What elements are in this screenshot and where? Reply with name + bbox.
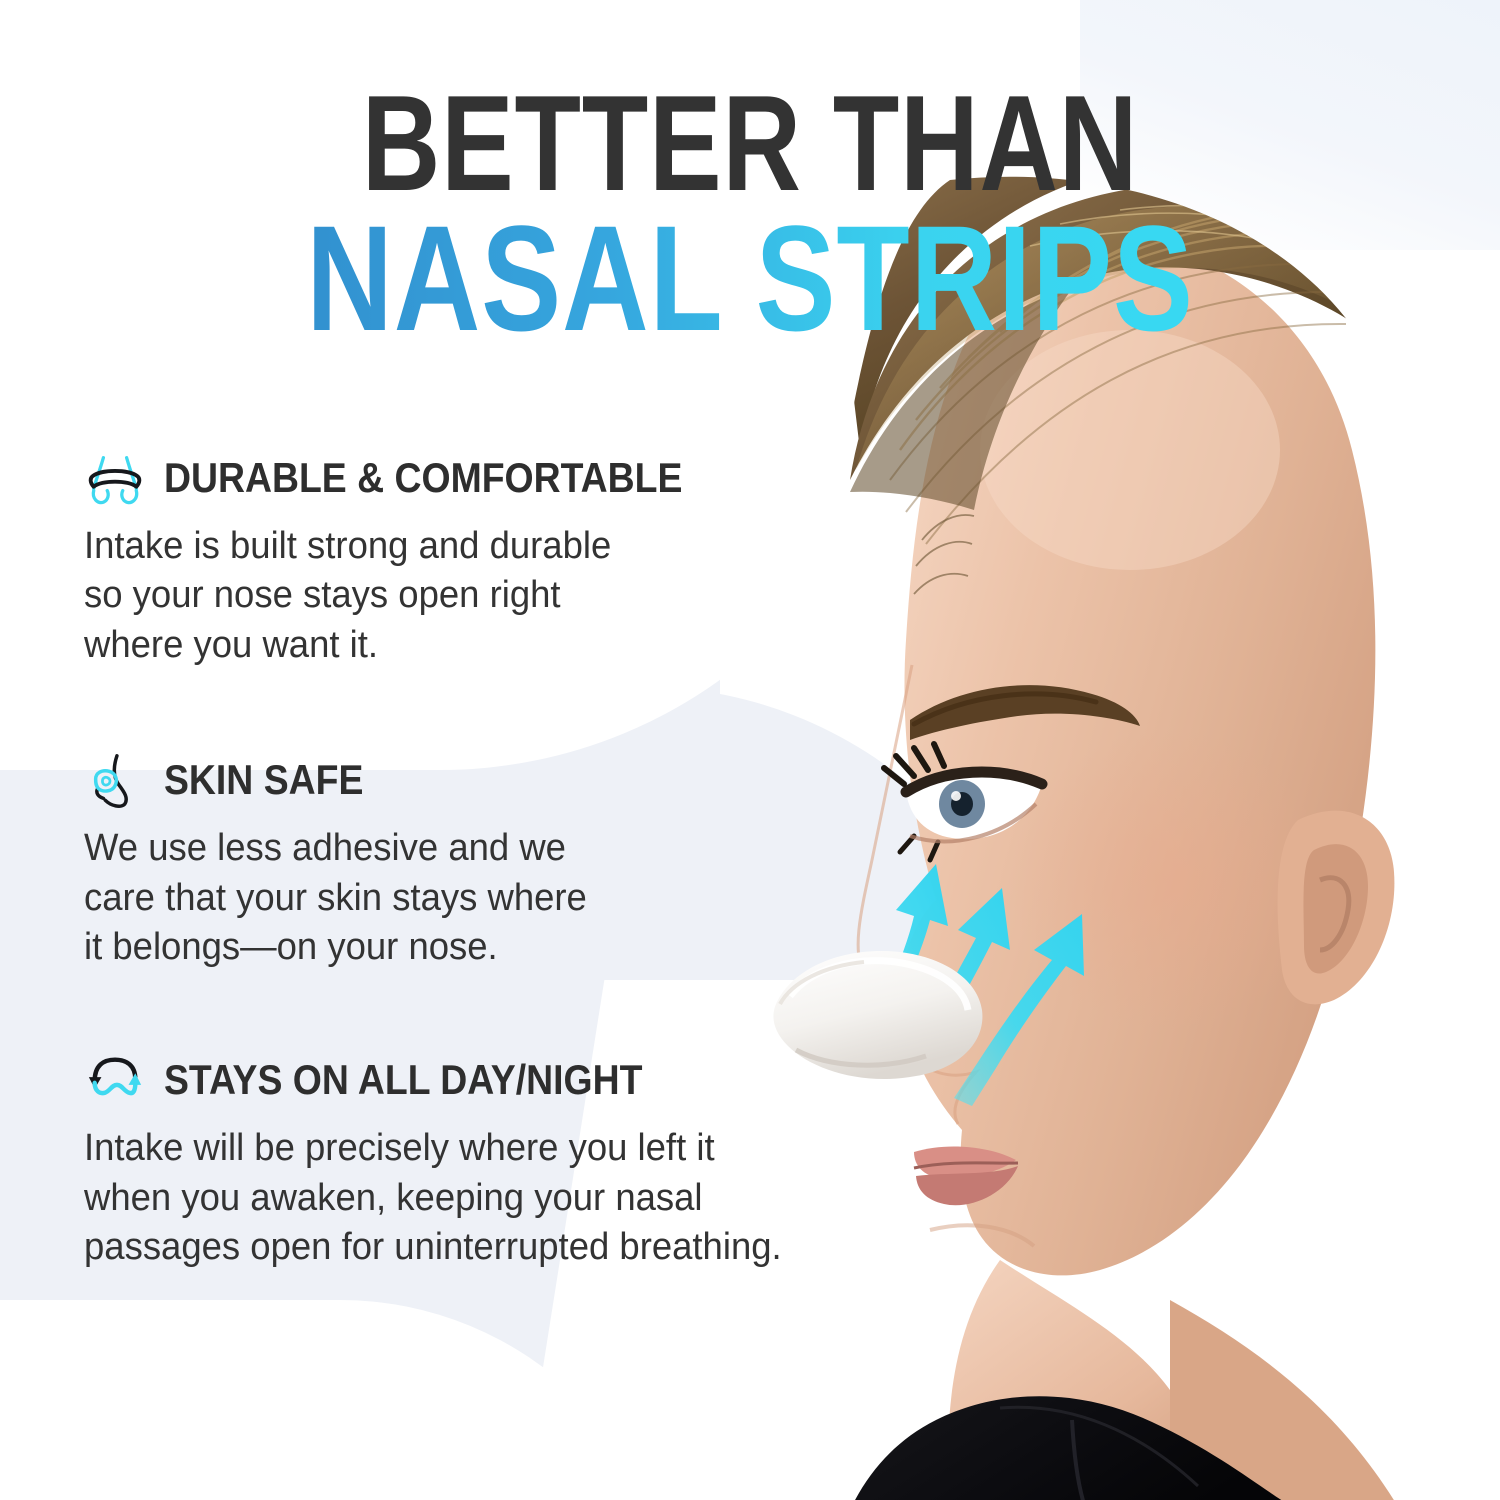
feature-header: DURABLE & COMFORTABLE — [84, 448, 964, 508]
feature-durable-comfortable: DURABLE & COMFORTABLE Intake is built st… — [84, 448, 964, 670]
feature-stays-on-all-day-night: STAYS ON ALL DAY/NIGHT Intake will be pr… — [84, 1050, 964, 1272]
feature-body: We use less adhesive and we care that yo… — [84, 824, 881, 972]
feature-header: STAYS ON ALL DAY/NIGHT — [84, 1050, 964, 1110]
feature-body: Intake is built strong and durable so yo… — [84, 522, 881, 670]
nose-profile-skin-patch-icon — [84, 750, 146, 810]
day-night-cycle-dilator-icon — [84, 1050, 146, 1110]
feature-title: SKIN SAFE — [164, 756, 363, 804]
feature-title: DURABLE & COMFORTABLE — [164, 454, 682, 502]
nose-front-dilator-icon — [84, 448, 146, 508]
feature-skin-safe: SKIN SAFE We use less adhesive and we ca… — [84, 750, 964, 972]
headline-line-1: BETTER THAN — [150, 78, 1350, 209]
feature-body: Intake will be precisely where you left … — [84, 1124, 881, 1272]
feature-title: STAYS ON ALL DAY/NIGHT — [164, 1056, 642, 1104]
feature-header: SKIN SAFE — [84, 750, 964, 810]
promo-image-canvas: BETTER THAN NASAL STRIPS — [0, 0, 1500, 1500]
headline: BETTER THAN NASAL STRIPS — [0, 78, 1500, 353]
headline-line-2: NASAL STRIPS — [150, 203, 1350, 353]
feature-list: DURABLE & COMFORTABLE Intake is built st… — [84, 448, 964, 1325]
